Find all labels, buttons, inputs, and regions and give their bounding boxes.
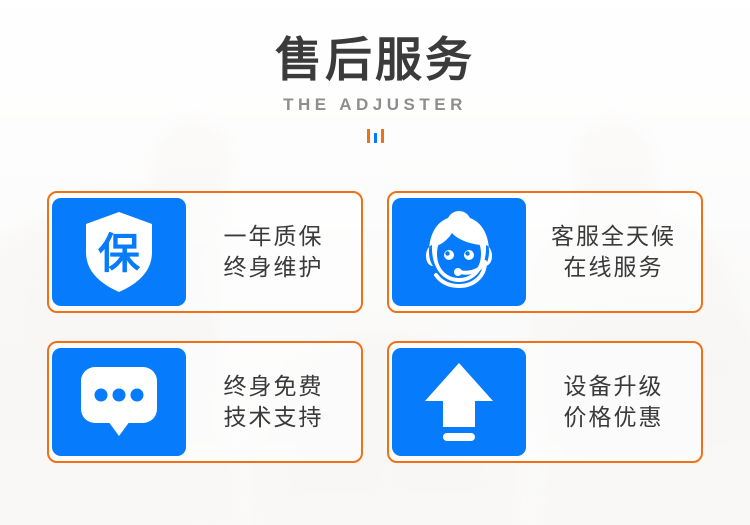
accent-bar-left xyxy=(367,129,370,143)
card-line-2: 技术支持 xyxy=(224,405,324,430)
service-cards-grid: 保 一年质保 终身维护 xyxy=(47,191,703,463)
header: 售后服务 THE ADJUSTER xyxy=(0,0,750,143)
card-icon-box: 保 xyxy=(52,198,186,306)
card-line-1: 终身免费 xyxy=(224,374,324,399)
service-card-tech-support[interactable]: 终身免费 技术支持 xyxy=(47,341,363,463)
title-accent-bars xyxy=(360,127,390,143)
page-title: 售后服务 xyxy=(0,34,750,87)
shield-guarantee-icon: 保 xyxy=(82,210,156,294)
after-sales-service-banner: 售后服务 THE ADJUSTER 保 一年质保 终身维护 xyxy=(0,0,750,525)
chat-bubble-icon xyxy=(78,364,160,440)
card-line-2: 终身维护 xyxy=(224,255,324,280)
customer-service-headset-icon xyxy=(419,210,499,294)
service-card-customer-service[interactable]: 客服全天候 在线服务 xyxy=(387,191,703,313)
accent-bar-right xyxy=(381,129,384,143)
card-line-1: 一年质保 xyxy=(224,224,324,249)
accent-bar-middle xyxy=(374,133,377,143)
card-line-2: 价格优惠 xyxy=(564,405,664,430)
card-line-1: 设备升级 xyxy=(564,374,664,399)
page-subtitle: THE ADJUSTER xyxy=(0,95,750,115)
service-card-warranty[interactable]: 保 一年质保 终身维护 xyxy=(47,191,363,313)
card-icon-box xyxy=(392,198,526,306)
card-text: 客服全天候 在线服务 xyxy=(526,224,701,281)
card-text: 终身免费 技术支持 xyxy=(186,374,361,431)
card-text: 一年质保 终身维护 xyxy=(186,224,361,281)
card-text: 设备升级 价格优惠 xyxy=(526,374,701,431)
card-icon-box xyxy=(52,348,186,456)
card-line-1: 客服全天候 xyxy=(551,224,676,249)
upgrade-arrow-icon xyxy=(423,361,495,443)
service-card-upgrade[interactable]: 设备升级 价格优惠 xyxy=(387,341,703,463)
card-line-2: 在线服务 xyxy=(564,255,664,280)
card-icon-box xyxy=(392,348,526,456)
svg-text:保: 保 xyxy=(98,230,141,277)
